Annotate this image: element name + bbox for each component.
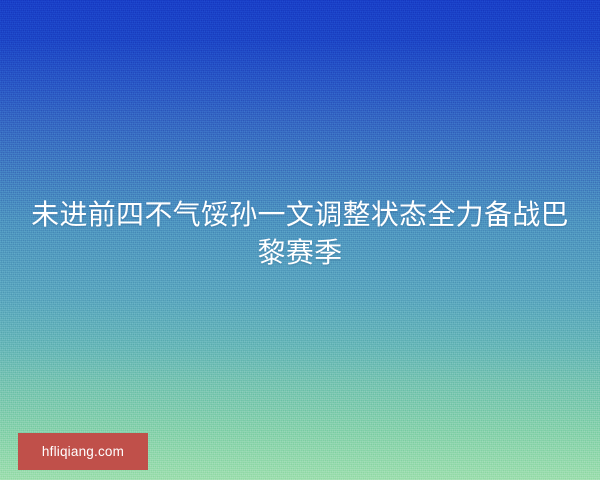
headline-title: 未进前四不气馁孙一文调整状态全力备战巴黎赛季 <box>24 196 576 272</box>
headline-container: 未进前四不气馁孙一文调整状态全力备战巴黎赛季 <box>0 196 600 272</box>
watermark-label: hfliqiang.com <box>42 445 124 459</box>
watermark-badge: hfliqiang.com <box>18 433 148 470</box>
cover-image-canvas: 未进前四不气馁孙一文调整状态全力备战巴黎赛季 hfliqiang.com <box>0 0 600 480</box>
